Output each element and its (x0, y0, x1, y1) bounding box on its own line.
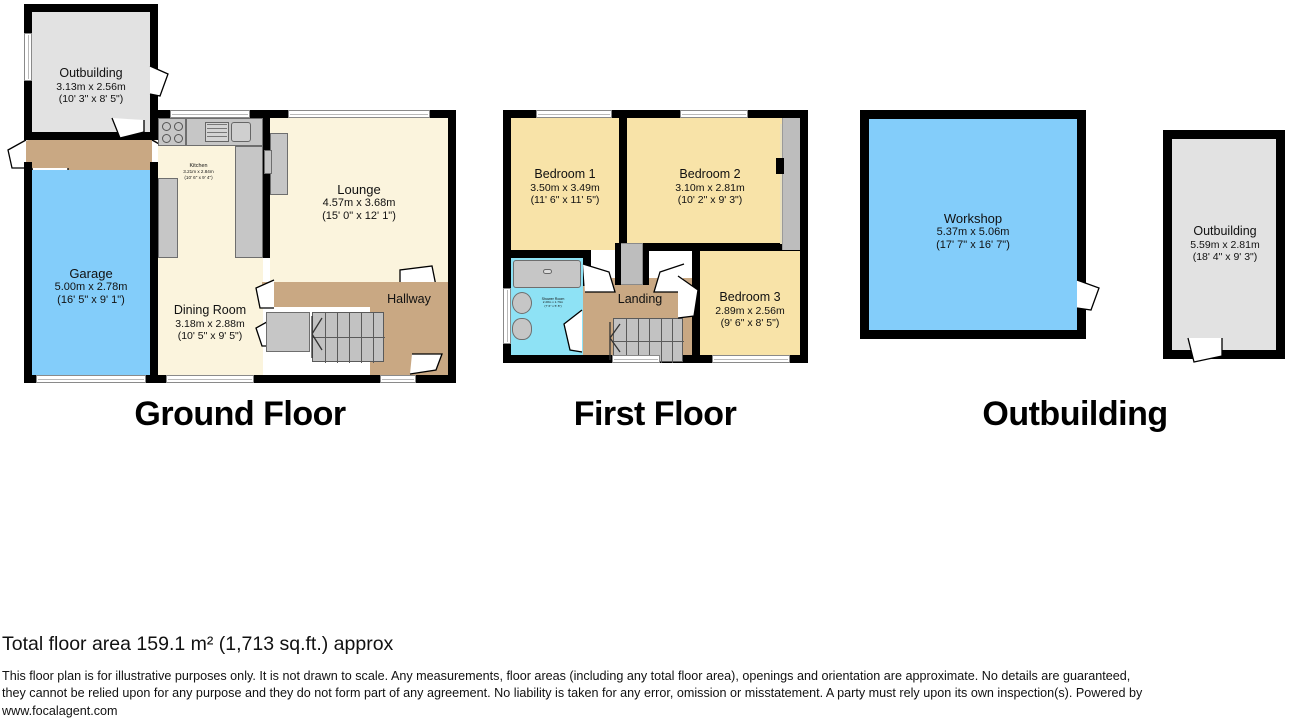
kitchen-sink-drainer-grooves (207, 124, 227, 125)
window-bedroom3-bottom (712, 355, 790, 363)
wall-bedroom2-wardrobe-notch (776, 158, 784, 174)
disclaimer-line-1: This floor plan is for illustrative purp… (2, 668, 1300, 685)
floor-title-first: First Floor (485, 395, 825, 434)
label-bedroom2: Bedroom 2 3.10m x 2.81m (10' 2" x 9' 3") (650, 167, 770, 207)
window-shower-left (503, 288, 511, 344)
wall-workshop-left (860, 110, 869, 339)
bedroom2-wardrobe (782, 118, 800, 250)
stairs-direction-arrow-ground (308, 314, 326, 360)
window-garage-bottom (36, 375, 146, 383)
label-shower-room: Shower Room 2.28m x 1.73m (7' 6" x 5' 8"… (532, 297, 574, 309)
disclaimer-line-3: www.focalagent.com (2, 703, 1300, 720)
kitchen-hob (158, 118, 186, 146)
door-workshop (1077, 278, 1103, 312)
total-floor-area: Total floor area 159.1 m² (1,713 sq.ft.)… (2, 633, 393, 656)
disclaimer: This floor plan is for illustrative purp… (2, 668, 1300, 720)
kitchen-hob-burner-4 (174, 134, 183, 143)
window-kitchen-top (170, 110, 250, 118)
kitchen-hob-burner-2 (174, 122, 183, 131)
lounge-recess-notch (264, 150, 272, 174)
door-outbuilding-gf-bottom (110, 118, 146, 142)
wall-workshop-bottom (860, 330, 1086, 339)
wall-outbuilding-gf-top (24, 4, 158, 12)
wall-kitchen-right (262, 110, 270, 258)
label-bedroom1: Bedroom 1 3.50m x 3.49m (11' 6" x 11' 5"… (505, 167, 625, 207)
door-bedroom1 (583, 264, 617, 294)
landing-cupboard (619, 243, 643, 285)
label-kitchen: Kitchen 3.21m x 2.84m (10' 6" x 9' 4") (156, 163, 241, 180)
label-lounge: Lounge 4.57m x 3.68m (15' 0" x 12' 1") (287, 182, 431, 223)
wash-basin (512, 292, 532, 314)
bedroom2-wardrobe-door-marks (780, 124, 782, 244)
floor-title-outbuilding: Outbuilding (910, 395, 1240, 434)
wall-lounge-right (448, 110, 456, 282)
bathtub-plug (543, 269, 552, 274)
floor-title-ground: Ground Floor (60, 395, 420, 434)
wall-cupboard-right (643, 243, 649, 285)
toilet (512, 318, 532, 340)
understairs-cupboard (266, 312, 310, 352)
label-bedroom3: Bedroom 3 2.89m x 2.56m (9' 6" x 8' 5") (690, 290, 810, 330)
window-dining-bottom (166, 375, 254, 383)
room-porch-link (24, 140, 158, 170)
door-shower-room (558, 310, 584, 354)
label-workshop: Workshop 5.37m x 5.06m (17' 7" x 16' 7") (903, 211, 1043, 252)
window-bedroom2-top (680, 110, 748, 118)
label-outbuilding-gf: Outbuilding 3.13m x 2.56m (10' 3" x 8' 5… (21, 66, 161, 106)
door-dining-hall-upper (252, 280, 276, 310)
kitchen-sink-drainer (205, 122, 229, 142)
floor-plan-canvas: Outbuilding 3.13m x 2.56m (10' 3" x 8' 5… (0, 0, 1302, 728)
window-lounge-top (288, 110, 430, 118)
wall-shower-top (503, 250, 591, 258)
door-bedroom3 (676, 276, 704, 320)
label-landing: Landing (592, 292, 688, 307)
wall-ground-outer-left-low (150, 250, 158, 258)
lounge-recess (270, 133, 288, 195)
door-outbuilding (1186, 338, 1226, 366)
kitchen-hob-burner-3 (162, 134, 171, 143)
kitchen-sink-bowl (231, 122, 251, 142)
label-garage: Garage 5.00m x 2.78m (16' 5" x 9' 1") (18, 266, 164, 307)
wall-outbuilding-top (1163, 130, 1285, 139)
door-outbuilding-gf-right (150, 64, 172, 98)
label-hallway: Hallway (364, 292, 454, 307)
disclaimer-line-2: they cannot be relied upon for any purpo… (2, 685, 1300, 702)
bathtub (513, 260, 581, 288)
door-hallway-front (410, 352, 444, 378)
label-outbuilding: Outbuilding 5.59m x 2.81m (18' 4" x 9' 3… (1162, 224, 1288, 264)
kitchen-worktop-left (158, 178, 178, 258)
wall-workshop-top (860, 110, 1086, 119)
window-bedroom1-top (536, 110, 612, 118)
window-landing-bottom (612, 355, 660, 363)
kitchen-hob-burner-1 (162, 122, 171, 131)
